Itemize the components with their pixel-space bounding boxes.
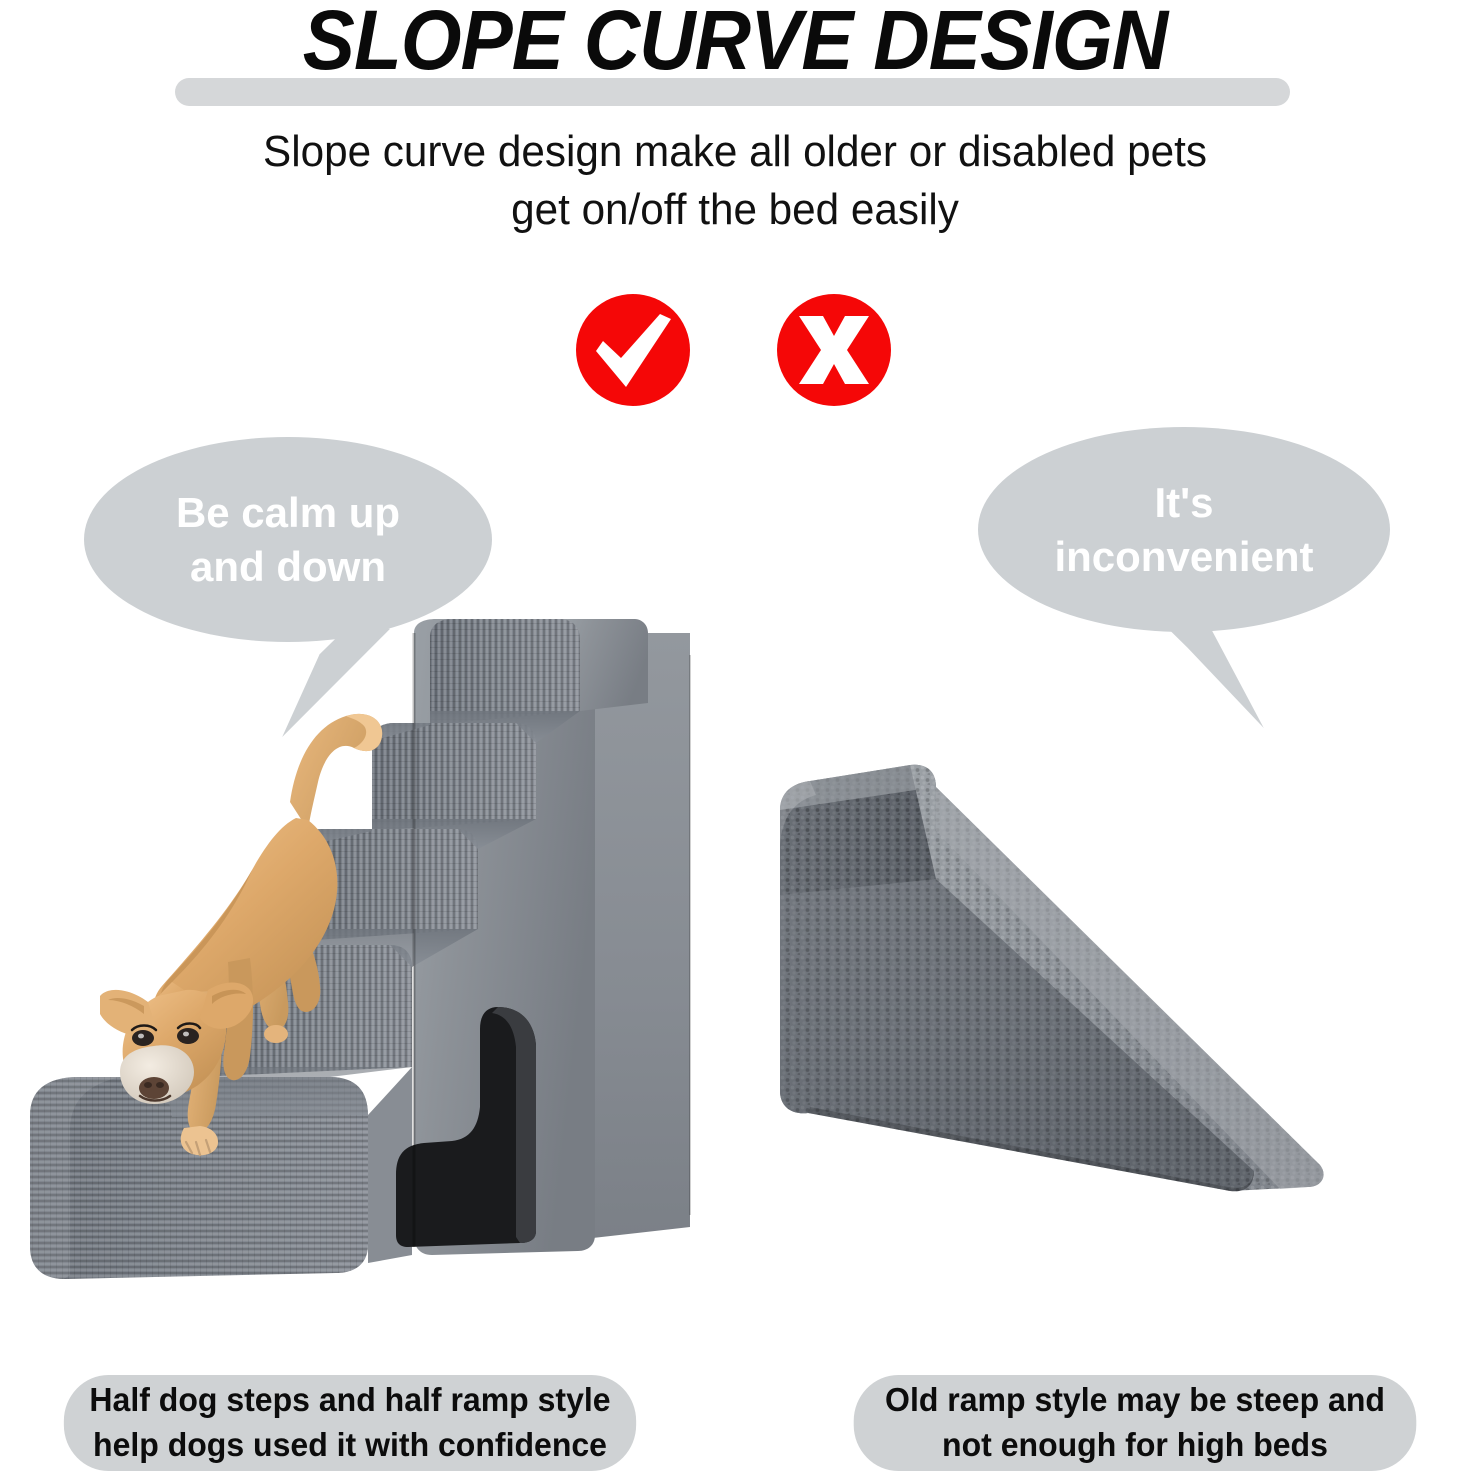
caption-left-line-2: help dogs used it with confidence — [89, 1423, 610, 1468]
caption-right-line-1: Old ramp style may be steep and — [885, 1378, 1385, 1423]
bubble-left-line-1: Be calm up — [176, 486, 400, 540]
product-infographic: SLOPE CURVE DESIGN Slope curve design ma… — [0, 0, 1470, 1475]
subtitle-line-1: Slope curve design make all older or dis… — [29, 123, 1440, 181]
page-subtitle: Slope curve design make all older or dis… — [29, 123, 1440, 239]
caption-right-text: Old ramp style may be steep and not enou… — [885, 1378, 1385, 1468]
speech-bubble-right: It's inconvenient — [978, 427, 1390, 632]
rejected-badge — [777, 294, 891, 406]
caption-right: Old ramp style may be steep and not enou… — [854, 1375, 1417, 1471]
caption-left-line-1: Half dog steps and half ramp style — [89, 1378, 610, 1423]
bubble-right-line-1: It's — [1154, 476, 1213, 530]
bubble-text-right: It's inconvenient — [978, 427, 1390, 632]
dog-illustration — [100, 690, 440, 1200]
bubble-left-line-2: and down — [190, 540, 386, 594]
foam-ramp-product — [760, 735, 1460, 1235]
check-icon — [576, 294, 690, 406]
subtitle-line-2: get on/off the bed easily — [29, 181, 1440, 239]
cross-icon — [777, 294, 891, 406]
page-title: SLOPE CURVE DESIGN — [51, 0, 1418, 84]
chihuahua-dog — [100, 690, 440, 1200]
speech-bubble-left: Be calm up and down — [84, 437, 492, 642]
caption-left: Half dog steps and half ramp style help … — [64, 1375, 636, 1471]
approved-badge — [576, 294, 690, 406]
caption-right-line-2: not enough for high beds — [885, 1423, 1385, 1468]
ramp-illustration — [760, 735, 1460, 1235]
caption-left-text: Half dog steps and half ramp style help … — [89, 1378, 610, 1468]
bubble-right-line-2: inconvenient — [1054, 530, 1313, 584]
bubble-text-left: Be calm up and down — [84, 437, 492, 642]
